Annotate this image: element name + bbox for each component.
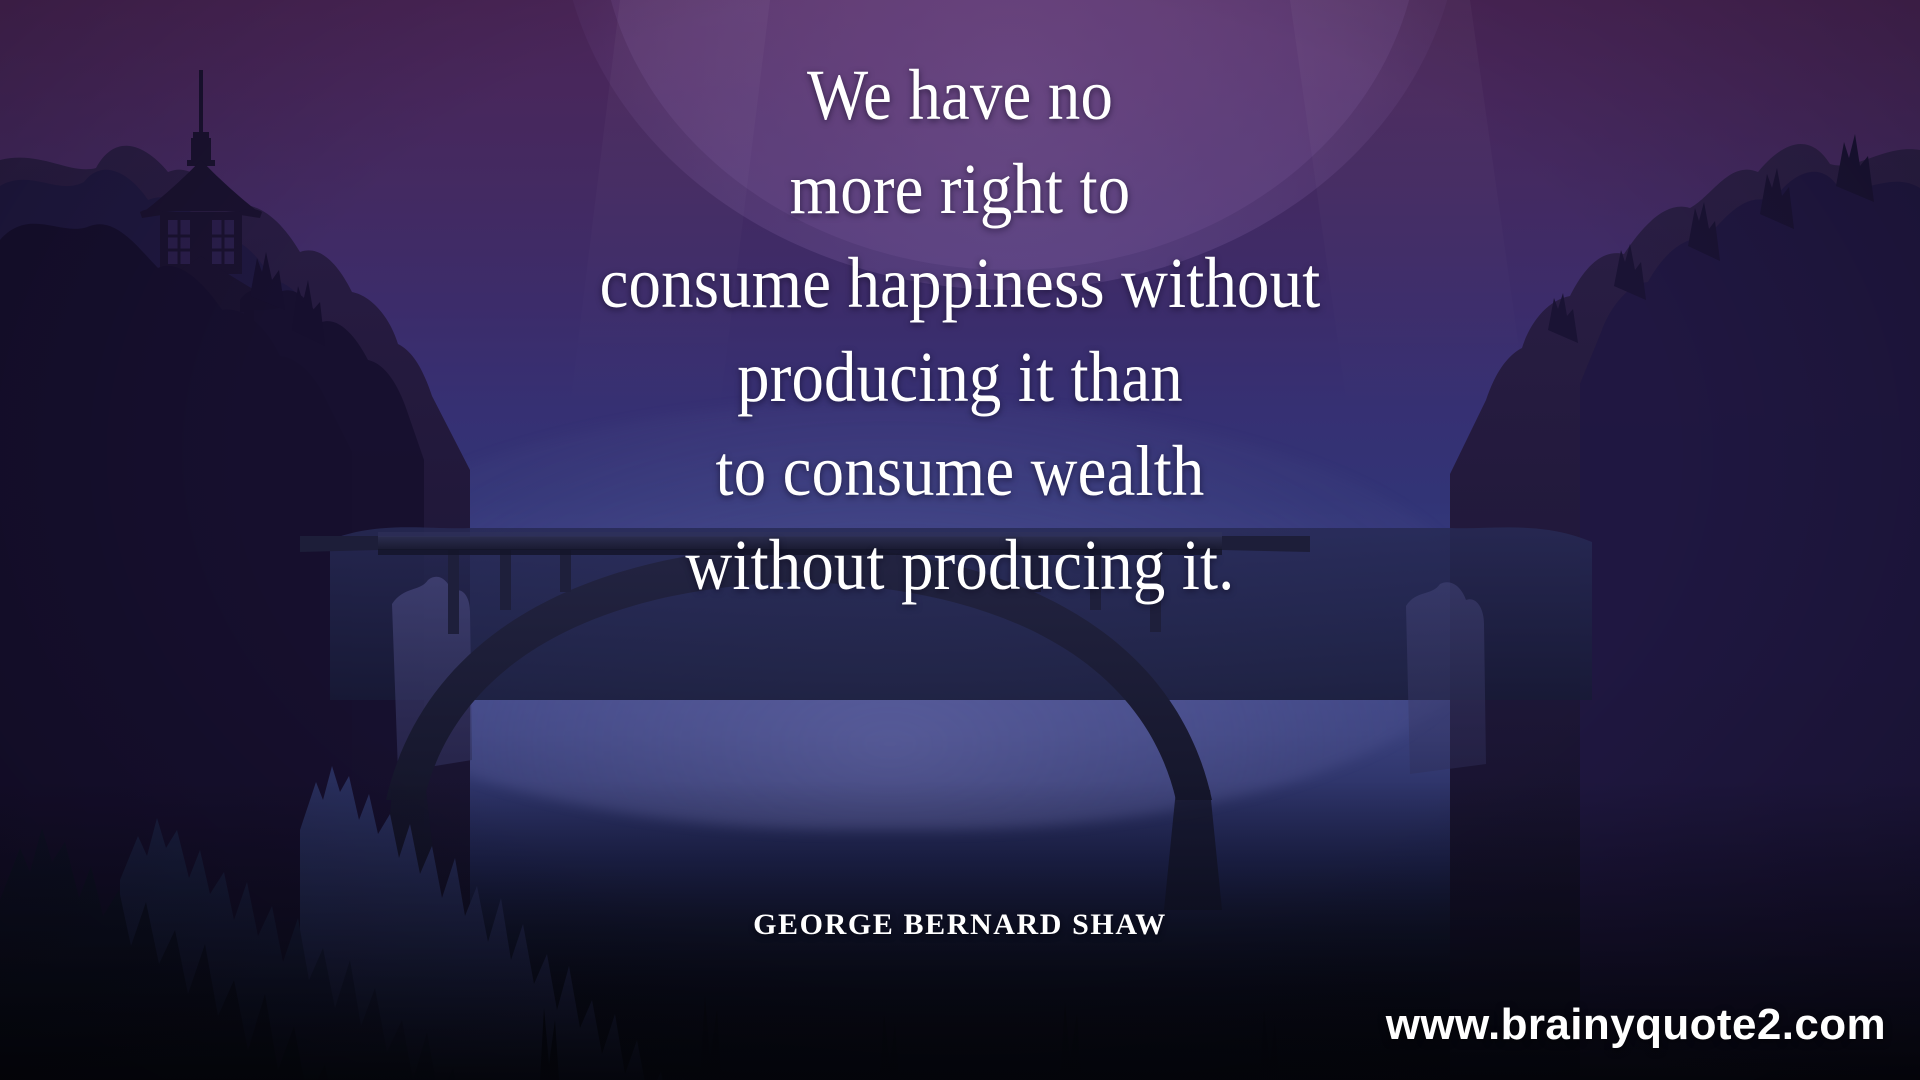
quote-card: We have no more right to consume happine… xyxy=(0,0,1920,1080)
quote-line-1: We have no xyxy=(96,48,1824,142)
quote-line-2: more right to xyxy=(96,142,1824,236)
watermark-url: www.brainyquote2.com xyxy=(1386,1000,1886,1049)
quote-line-3: consume happiness without xyxy=(96,236,1824,330)
quote-line-6: without producing it. xyxy=(96,518,1824,612)
foreground-grass xyxy=(540,996,1279,1080)
quote-line-4: producing it than xyxy=(96,330,1824,424)
site-watermark: www.brainyquote2.com xyxy=(1386,1000,1886,1050)
quote-text: We have no more right to consume happine… xyxy=(0,48,1920,612)
quote-author: GEORGE BERNARD SHAW xyxy=(0,908,1920,942)
quote-line-5: to consume wealth xyxy=(96,424,1824,518)
author-name: GEORGE BERNARD SHAW xyxy=(753,908,1167,941)
